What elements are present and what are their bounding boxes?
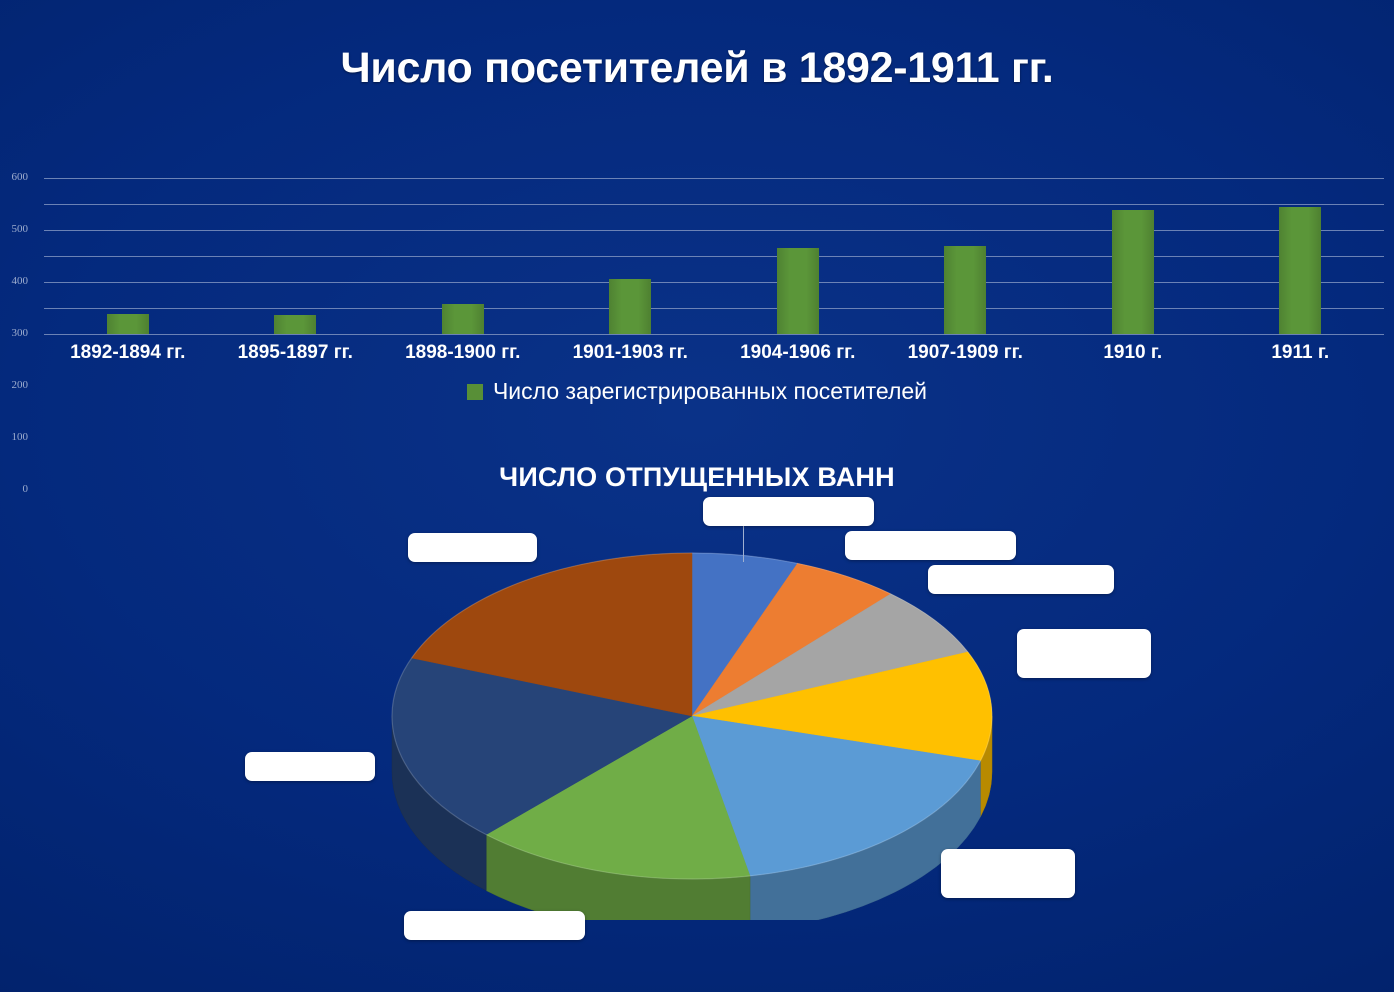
pie-label-text: 1895-1897 гг.; 4181	[855, 535, 1006, 554]
bar-column	[1217, 178, 1385, 334]
bar-column	[882, 178, 1050, 334]
gridline: 0	[44, 334, 1384, 335]
bar-column	[212, 178, 380, 334]
y-axis-tick-label: 100	[0, 431, 28, 443]
pie-label-text-line1: 1901-1903 гг.;	[1030, 633, 1139, 652]
bar-column	[714, 178, 882, 334]
bar-chart-legend: Число зарегистрированных посетителей	[0, 378, 1394, 405]
x-axis-label-0: 1892-1894 гг.	[44, 342, 212, 364]
bar	[777, 248, 819, 334]
pie-label-text: 1898-1900 гг.; 5083,6	[938, 569, 1104, 588]
pie-chart-svg	[372, 520, 1012, 920]
bar	[609, 279, 651, 334]
pie-label-1895-1897: 1895-1897 гг.; 4181	[845, 531, 1016, 560]
y-axis-tick-label: 300	[0, 327, 28, 339]
bar	[1279, 207, 1321, 334]
bar	[442, 304, 484, 334]
x-axis-label-4: 1904-1906 гг.	[714, 342, 882, 364]
x-axis-label-7: 1911 г.	[1217, 342, 1385, 364]
pie-label-1910: 1910 г.; 13518	[245, 752, 375, 781]
bar-column	[547, 178, 715, 334]
x-axis-label-2: 1898-1900 гг.	[379, 342, 547, 364]
pie-label-text: 1892-1894 гг.; 4122	[713, 501, 864, 520]
bar-chart: 6005004003002001000 1892-1894 гг.1895-18…	[0, 160, 1394, 420]
bar	[107, 314, 149, 334]
pie-label-text-line2: 7823,66	[1053, 653, 1114, 672]
pie-chart	[372, 520, 1012, 920]
bar-column	[1049, 178, 1217, 334]
presentation-slide: Число посетителей в 1892-1911 гг. 600500…	[0, 0, 1394, 992]
pie-leader-line	[743, 526, 744, 562]
y-axis-tick-label: 400	[0, 275, 28, 287]
legend-label: Число зарегистрированных посетителей	[493, 378, 927, 405]
x-axis-label-6: 1910 г.	[1049, 342, 1217, 364]
legend-swatch-icon	[467, 384, 483, 400]
bar-chart-x-axis-labels: 1892-1894 гг.1895-1897 гг.1898-1900 гг.1…	[44, 342, 1384, 364]
y-axis-tick-label: 500	[0, 223, 28, 235]
pie-chart-title: ЧИСЛО ОТПУЩЕННЫХ ВАНН	[0, 462, 1394, 493]
x-axis-label-3: 1901-1903 гг.	[547, 342, 715, 364]
page-title: Число посетителей в 1892-1911 гг.	[0, 44, 1394, 93]
pie-label-1901-1903: 1901-1903 гг.; 7823,66	[1017, 629, 1151, 678]
pie-label-text: 1907-1909 гг.; 10901	[414, 915, 575, 934]
bar	[1112, 210, 1154, 334]
pie-label-1907-1909: 1907-1909 гг.; 10901	[404, 911, 585, 940]
pie-label-text: 1910 г.; 13518	[255, 756, 365, 775]
bar	[274, 315, 316, 335]
bar	[944, 246, 986, 334]
pie-label-text-line1: 1904-1906 гг.;	[954, 853, 1063, 872]
pie-label-1904-1906: 1904-1906 гг.; 12587,33	[941, 849, 1075, 898]
pie-label-1898-1900: 1898-1900 гг.; 5083,6	[928, 565, 1114, 594]
bar-column	[44, 178, 212, 334]
bar-column	[379, 178, 547, 334]
pie-label-text: 1911 г.; 13843	[418, 537, 527, 556]
pie-label-text-line2: 12587,33	[973, 873, 1044, 892]
pie-label-1892-1894: 1892-1894 гг.; 4122	[703, 497, 874, 526]
x-axis-label-5: 1907-1909 гг.	[882, 342, 1050, 364]
bar-chart-bars	[44, 178, 1384, 334]
x-axis-label-1: 1895-1897 гг.	[212, 342, 380, 364]
pie-label-1911: 1911 г.; 13843	[408, 533, 537, 562]
y-axis-tick-label: 600	[0, 171, 28, 183]
